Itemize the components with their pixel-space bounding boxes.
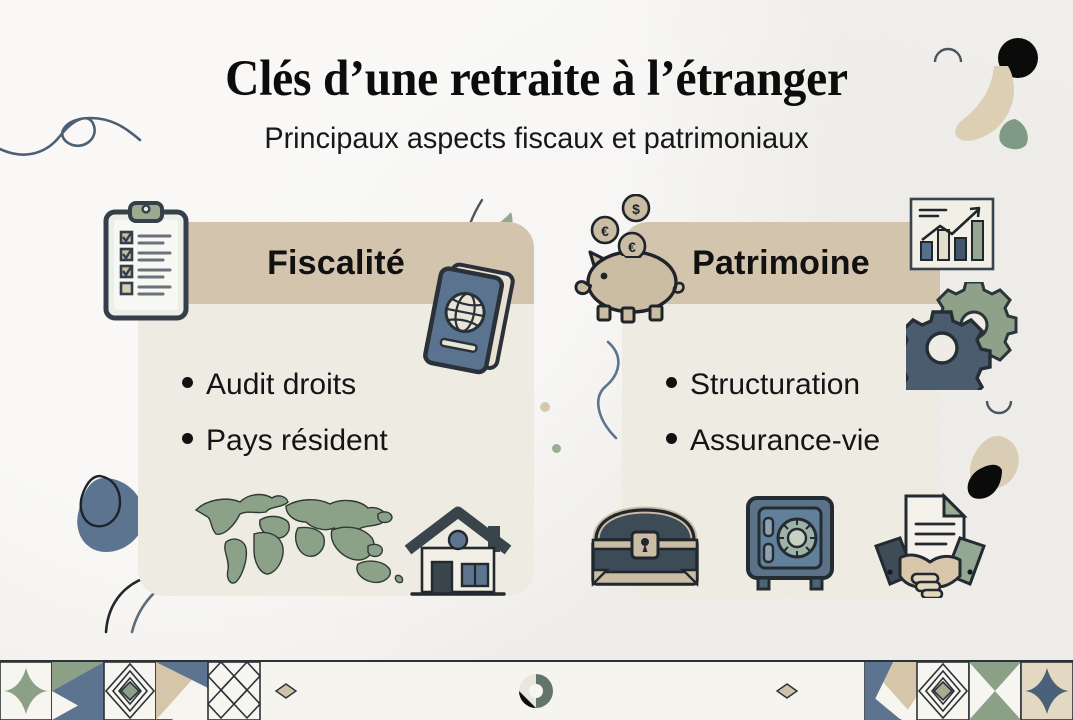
tile-hourglass xyxy=(969,662,1021,720)
tile-lattice-diamonds xyxy=(208,662,260,720)
tile-diamond-star-right xyxy=(1021,662,1073,720)
coin-symbol-eur-1: € xyxy=(601,223,609,239)
treasure-chest-icon xyxy=(588,504,702,592)
bullet-list: Audit droits Pays résident xyxy=(182,368,388,480)
tile-triangles-blue-tan xyxy=(865,662,917,720)
coin-symbol-eur-2: € xyxy=(628,239,636,255)
tiny-tan-dot-deco xyxy=(540,402,550,412)
poster-canvas: Clés d’une retraite à l’étranger Princip… xyxy=(0,0,1073,720)
tile-concentric-diamond xyxy=(104,662,156,720)
bullet-list: Structuration Assurance-vie xyxy=(666,368,880,480)
bullet-dot-icon xyxy=(182,377,193,388)
list-item: Assurance-vie xyxy=(666,424,880,458)
center-ornament xyxy=(519,674,553,708)
gears-icon xyxy=(906,282,1022,390)
world-map-icon xyxy=(182,484,414,596)
list-item: Structuration xyxy=(666,368,880,402)
safe-icon xyxy=(742,494,838,594)
passport-icon xyxy=(418,256,526,392)
bullet-dot-icon xyxy=(666,377,677,388)
list-item: Pays résident xyxy=(182,424,388,458)
coin-symbol-usd: $ xyxy=(632,201,640,217)
bullet-label: Assurance-vie xyxy=(690,424,880,458)
tiny-sage-dot-deco xyxy=(552,444,561,453)
bullet-label: Structuration xyxy=(690,368,860,402)
tile-group-left xyxy=(0,662,296,720)
bullet-dot-icon xyxy=(182,433,193,444)
bar-chart-growth-icon xyxy=(908,196,996,274)
tile-triangles-tan-blue xyxy=(156,662,208,720)
list-item: Audit droits xyxy=(182,368,388,402)
handshake-document-icon xyxy=(874,490,986,598)
footer-pattern-border xyxy=(0,660,1073,720)
clipboard-checklist-icon xyxy=(100,198,192,322)
page-title: Clés d’une retraite à l’étranger xyxy=(38,50,1036,108)
arc-small-right-deco xyxy=(984,398,1014,416)
tile-pinwheel xyxy=(52,662,104,720)
coins-icon: € $ € xyxy=(590,194,660,256)
tile-concentric-diamond-right xyxy=(917,662,969,720)
bullet-label: Pays résident xyxy=(206,424,388,458)
bullet-dot-icon xyxy=(666,433,677,444)
page-subtitle: Principaux aspects fiscaux et patrimonia… xyxy=(21,122,1051,156)
bullet-label: Audit droits xyxy=(206,368,356,402)
house-icon xyxy=(404,506,512,602)
tile-diamond-star xyxy=(0,662,52,720)
